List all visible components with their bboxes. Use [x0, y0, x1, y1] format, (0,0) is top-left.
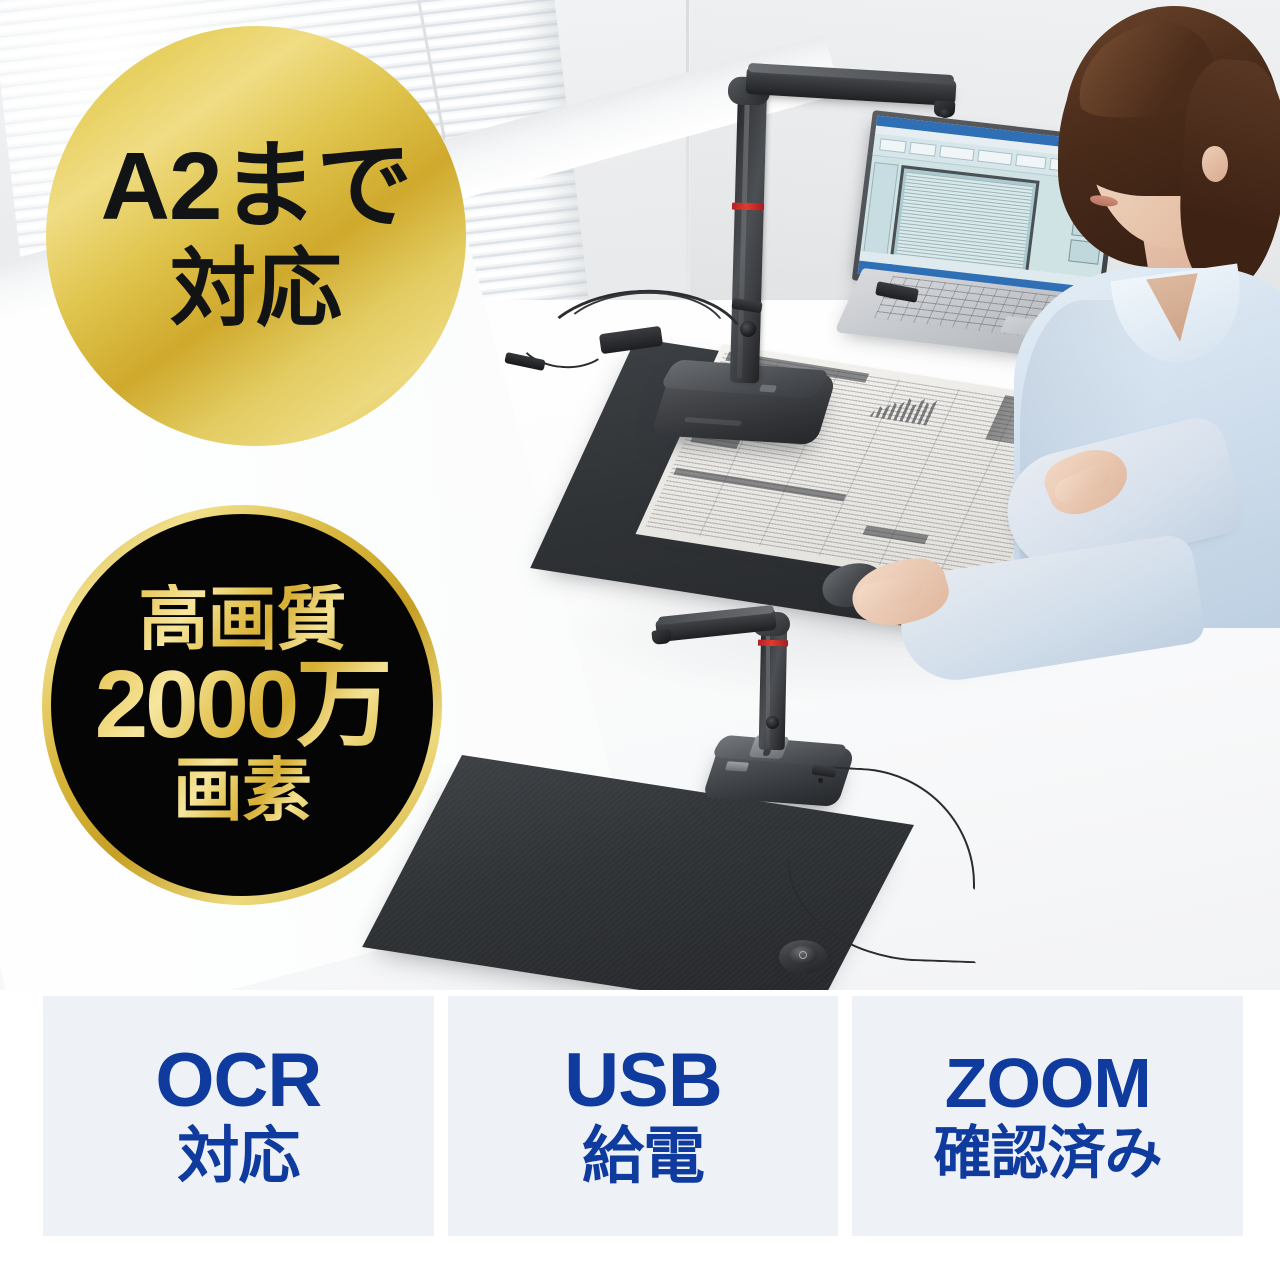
- feature-usb-subtitle: 給電: [582, 1125, 704, 1189]
- a2-support-badge: A2まで 対応: [46, 26, 466, 446]
- feature-box-zoom: ZOOM 確認済み: [852, 996, 1243, 1236]
- toolbar-button: [977, 150, 1013, 166]
- shutter-icon: [799, 951, 807, 959]
- feature-box-ocr: OCR 対応: [43, 996, 434, 1236]
- feature-badge-row: OCR 対応 USB 給電 ZOOM 確認済み: [43, 996, 1243, 1236]
- resolution-badge: 高画質 2000万 画素: [42, 505, 442, 905]
- scanner-red-accent: [732, 203, 764, 211]
- resolution-badge-line1: 高画質: [139, 584, 346, 655]
- scanner-sensor: [766, 716, 779, 729]
- scanner-column: [759, 618, 788, 751]
- scanner-camera-head: [651, 629, 671, 645]
- feature-box-usb: USB 給電: [448, 996, 839, 1236]
- feature-zoom-title: ZOOM: [945, 1048, 1151, 1118]
- feature-zoom-subtitle: 確認済み: [934, 1124, 1162, 1184]
- a2-badge-line2: 対応: [170, 242, 342, 337]
- toolbar-button: [879, 138, 907, 153]
- toolbar-button: [939, 145, 975, 161]
- resolution-badge-line2: 2000万: [95, 657, 390, 753]
- a2-badge-line1: A2まで: [101, 136, 412, 238]
- feature-usb-title: USB: [564, 1043, 721, 1119]
- feature-ocr-subtitle: 対応: [177, 1125, 299, 1189]
- feature-ocr-title: OCR: [155, 1043, 321, 1119]
- scanner-logo-badge: [725, 761, 749, 772]
- scanner-red-accent: [758, 640, 788, 647]
- resolution-badge-inner: 高画質 2000万 画素: [51, 514, 433, 896]
- toolbar-button: [909, 142, 937, 157]
- resolution-badge-line3: 画素: [173, 755, 311, 826]
- product-feature-image: A2まで 対応 高画質 2000万 画素 OCR 対応 USB 給電 ZOOM …: [0, 0, 1280, 1280]
- scanner-indicator: [759, 384, 777, 392]
